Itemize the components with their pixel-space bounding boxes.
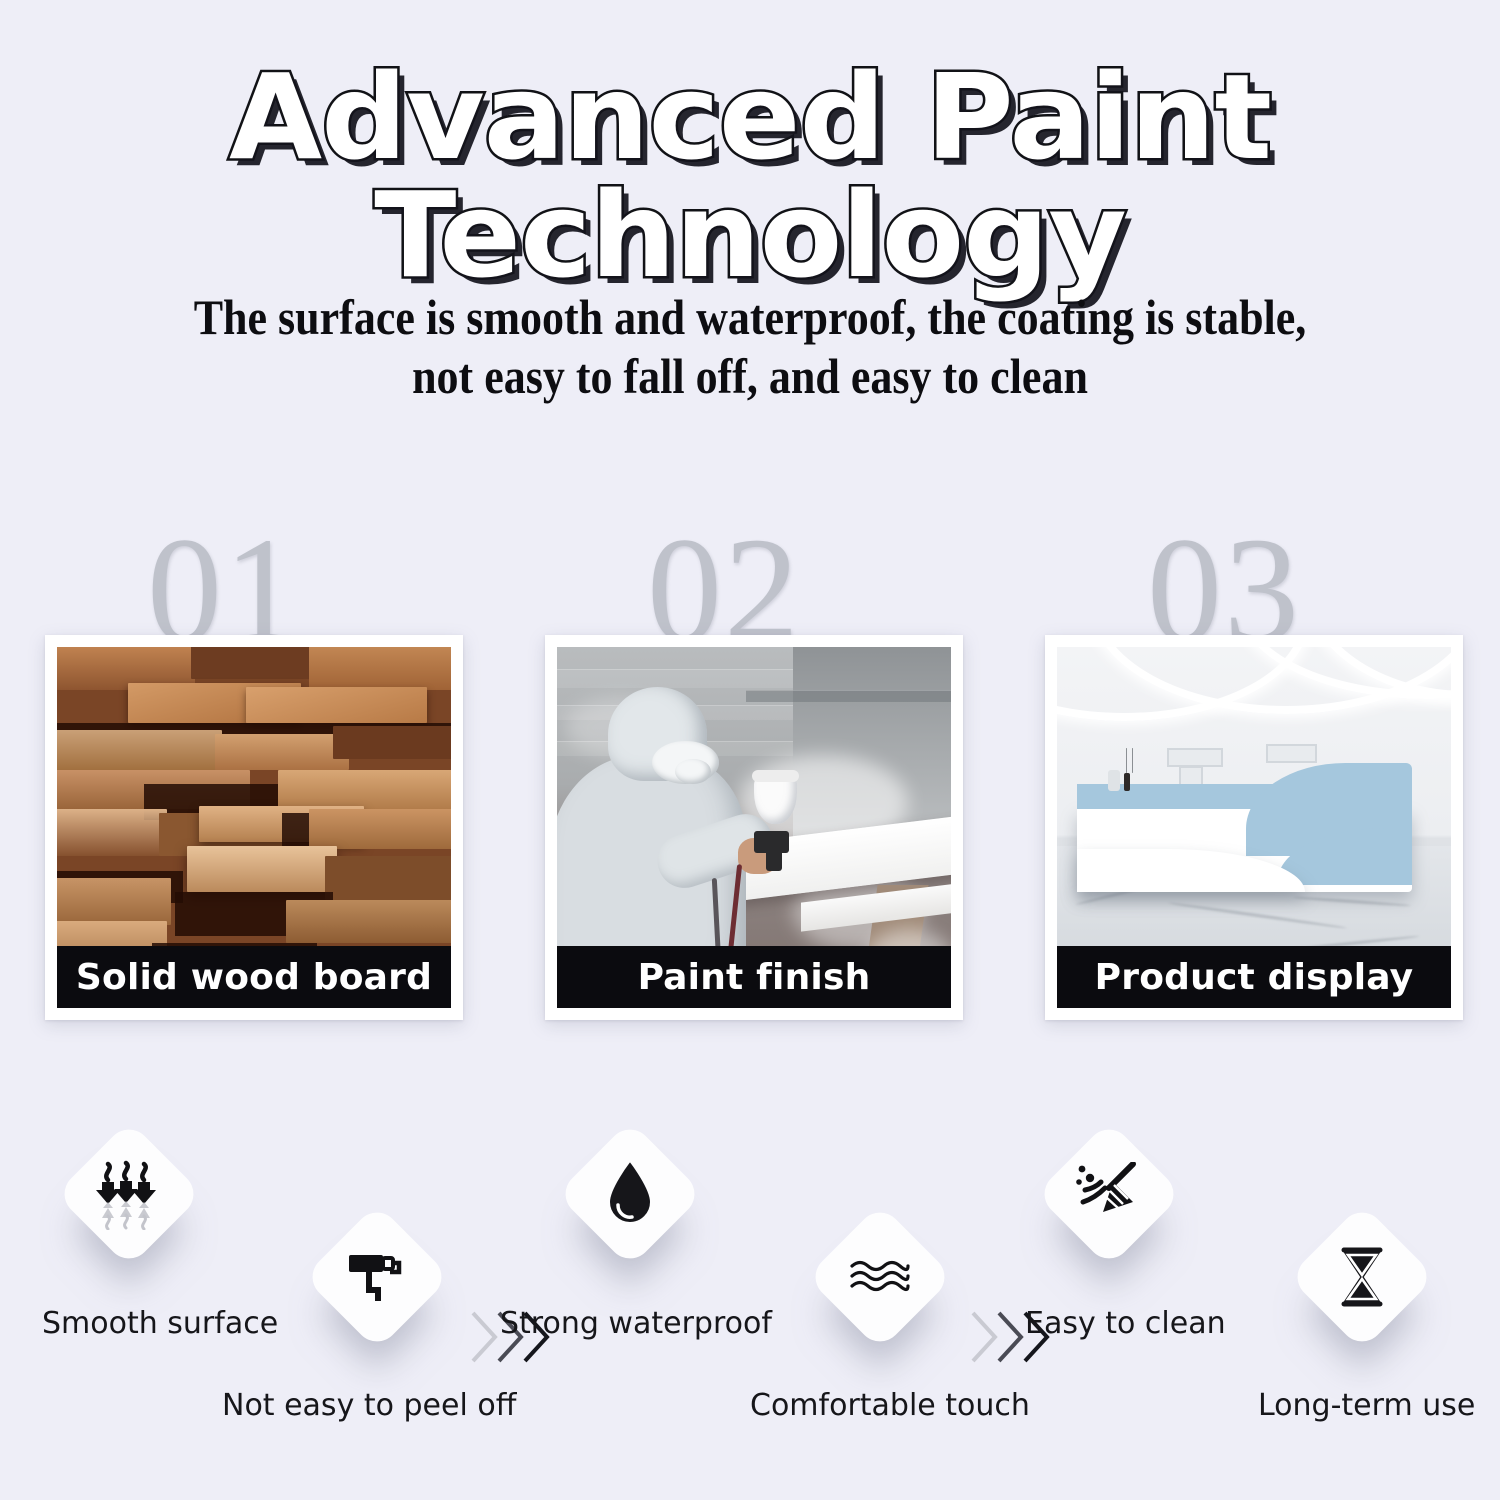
step-card-1: 01 bbox=[35, 520, 495, 1040]
feature-tile-3 bbox=[556, 1120, 703, 1267]
feature-tile-2 bbox=[303, 1203, 450, 1350]
step-label-bar-2: Paint finish bbox=[557, 946, 951, 1008]
page-title-container: Advanced Paint Technology bbox=[0, 58, 1500, 294]
feature-list: Smooth surface Not easy to peel off bbox=[0, 1120, 1500, 1500]
step-card-2: 02 bbox=[535, 520, 995, 1040]
step-label-2: Paint finish bbox=[638, 957, 871, 998]
step-card-3: 03 bbox=[1035, 520, 1495, 1040]
photo-card-1: Solid wood board bbox=[45, 635, 463, 1020]
feature-tile-6 bbox=[1288, 1203, 1435, 1350]
page-title: Advanced Paint Technology bbox=[0, 58, 1500, 294]
subtitle-line-2: not easy to fall off, and easy to clean bbox=[90, 347, 1410, 406]
feature-tile-4 bbox=[806, 1203, 953, 1350]
feature-label-3: Strong waterproof bbox=[500, 1306, 772, 1341]
paint-roller-icon bbox=[325, 1225, 429, 1329]
infographic-page: Advanced Paint Technology The surface is… bbox=[0, 0, 1500, 1500]
feature-label-2: Not easy to peel off bbox=[222, 1388, 516, 1423]
feature-tile-1 bbox=[55, 1120, 202, 1267]
broom-icon bbox=[1057, 1142, 1161, 1246]
photo-card-2: Paint finish bbox=[545, 635, 963, 1020]
process-steps: 01 bbox=[0, 520, 1500, 1040]
page-subtitle: The surface is smooth and waterproof, th… bbox=[90, 288, 1410, 406]
feature-label-5: Easy to clean bbox=[1025, 1306, 1226, 1341]
step-label-1: Solid wood board bbox=[76, 957, 432, 998]
wavy-lines-icon bbox=[828, 1225, 932, 1329]
step-label-bar-3: Product display bbox=[1057, 946, 1451, 1008]
feature-label-6: Long-term use bbox=[1258, 1388, 1475, 1423]
feature-label-4: Comfortable touch bbox=[750, 1388, 1030, 1423]
subtitle-line-1: The surface is smooth and waterproof, th… bbox=[194, 289, 1307, 345]
step-label-3: Product display bbox=[1095, 957, 1414, 998]
down-arrows-icon bbox=[77, 1142, 181, 1246]
step-label-bar-1: Solid wood board bbox=[57, 946, 451, 1008]
feature-tile-5 bbox=[1035, 1120, 1182, 1267]
water-drop-icon bbox=[578, 1142, 682, 1246]
feature-label-1: Smooth surface bbox=[42, 1306, 278, 1341]
hourglass-icon bbox=[1310, 1225, 1414, 1329]
photo-card-3: Product display bbox=[1045, 635, 1463, 1020]
